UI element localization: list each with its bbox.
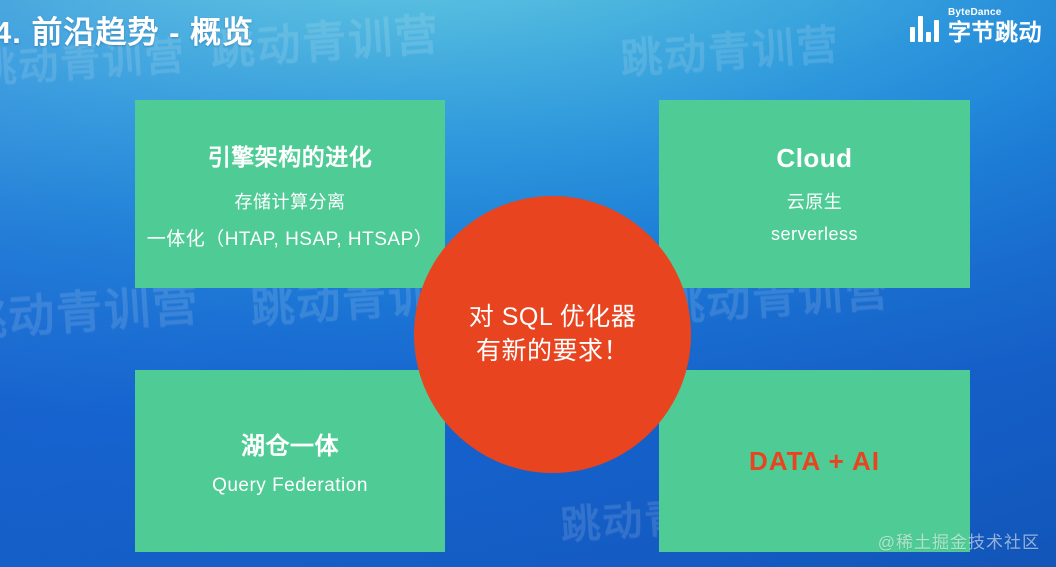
card-subtext-1: 云原生 xyxy=(787,188,843,214)
card-data-ai: DATA + AI xyxy=(659,370,970,552)
slide-title: 4. 前沿趋势 - 概览 xyxy=(0,7,254,52)
slide-root: 跳动青训营 跳动青训营 跳动青训营 跳动青训营 跳动青训营 跳动青训营 跳动青训… xyxy=(0,0,1056,567)
card-subtext-1: Query Federation xyxy=(212,475,368,497)
logo-chinese-label: 字节跳动 xyxy=(948,21,1042,44)
circle-line-1: 对 SQL 优化器 xyxy=(469,301,637,335)
card-accent-heading: DATA + AI xyxy=(749,446,880,477)
card-cloud: Cloud 云原生 serverless xyxy=(659,100,970,288)
bytedance-bars-icon xyxy=(910,16,939,42)
card-heading: 湖仓一体 xyxy=(241,426,339,461)
bytedance-logo: ByteDance 字节跳动 xyxy=(910,8,1042,44)
card-heading: 引擎架构的进化 xyxy=(208,138,373,172)
card-lakehouse: 湖仓一体 Query Federation xyxy=(135,370,445,552)
card-subtext-2: 一体化（HTAP, HSAP, HTSAP） xyxy=(147,224,434,251)
card-subtext-2: serverless xyxy=(771,224,858,245)
corner-watermark: @稀土掘金技术社区 xyxy=(878,528,1040,553)
circle-line-2: 有新的要求！ xyxy=(476,335,629,369)
card-engine-architecture: 引擎架构的进化 存储计算分离 一体化（HTAP, HSAP, HTSAP） xyxy=(135,100,445,288)
card-heading: Cloud xyxy=(776,143,852,174)
logo-text-block: ByteDance 字节跳动 xyxy=(948,8,1042,44)
card-subtext-1: 存储计算分离 xyxy=(235,188,346,214)
center-emphasis-circle: 对 SQL 优化器 有新的要求！ xyxy=(414,196,691,473)
logo-english-label: ByteDance xyxy=(948,8,1002,18)
